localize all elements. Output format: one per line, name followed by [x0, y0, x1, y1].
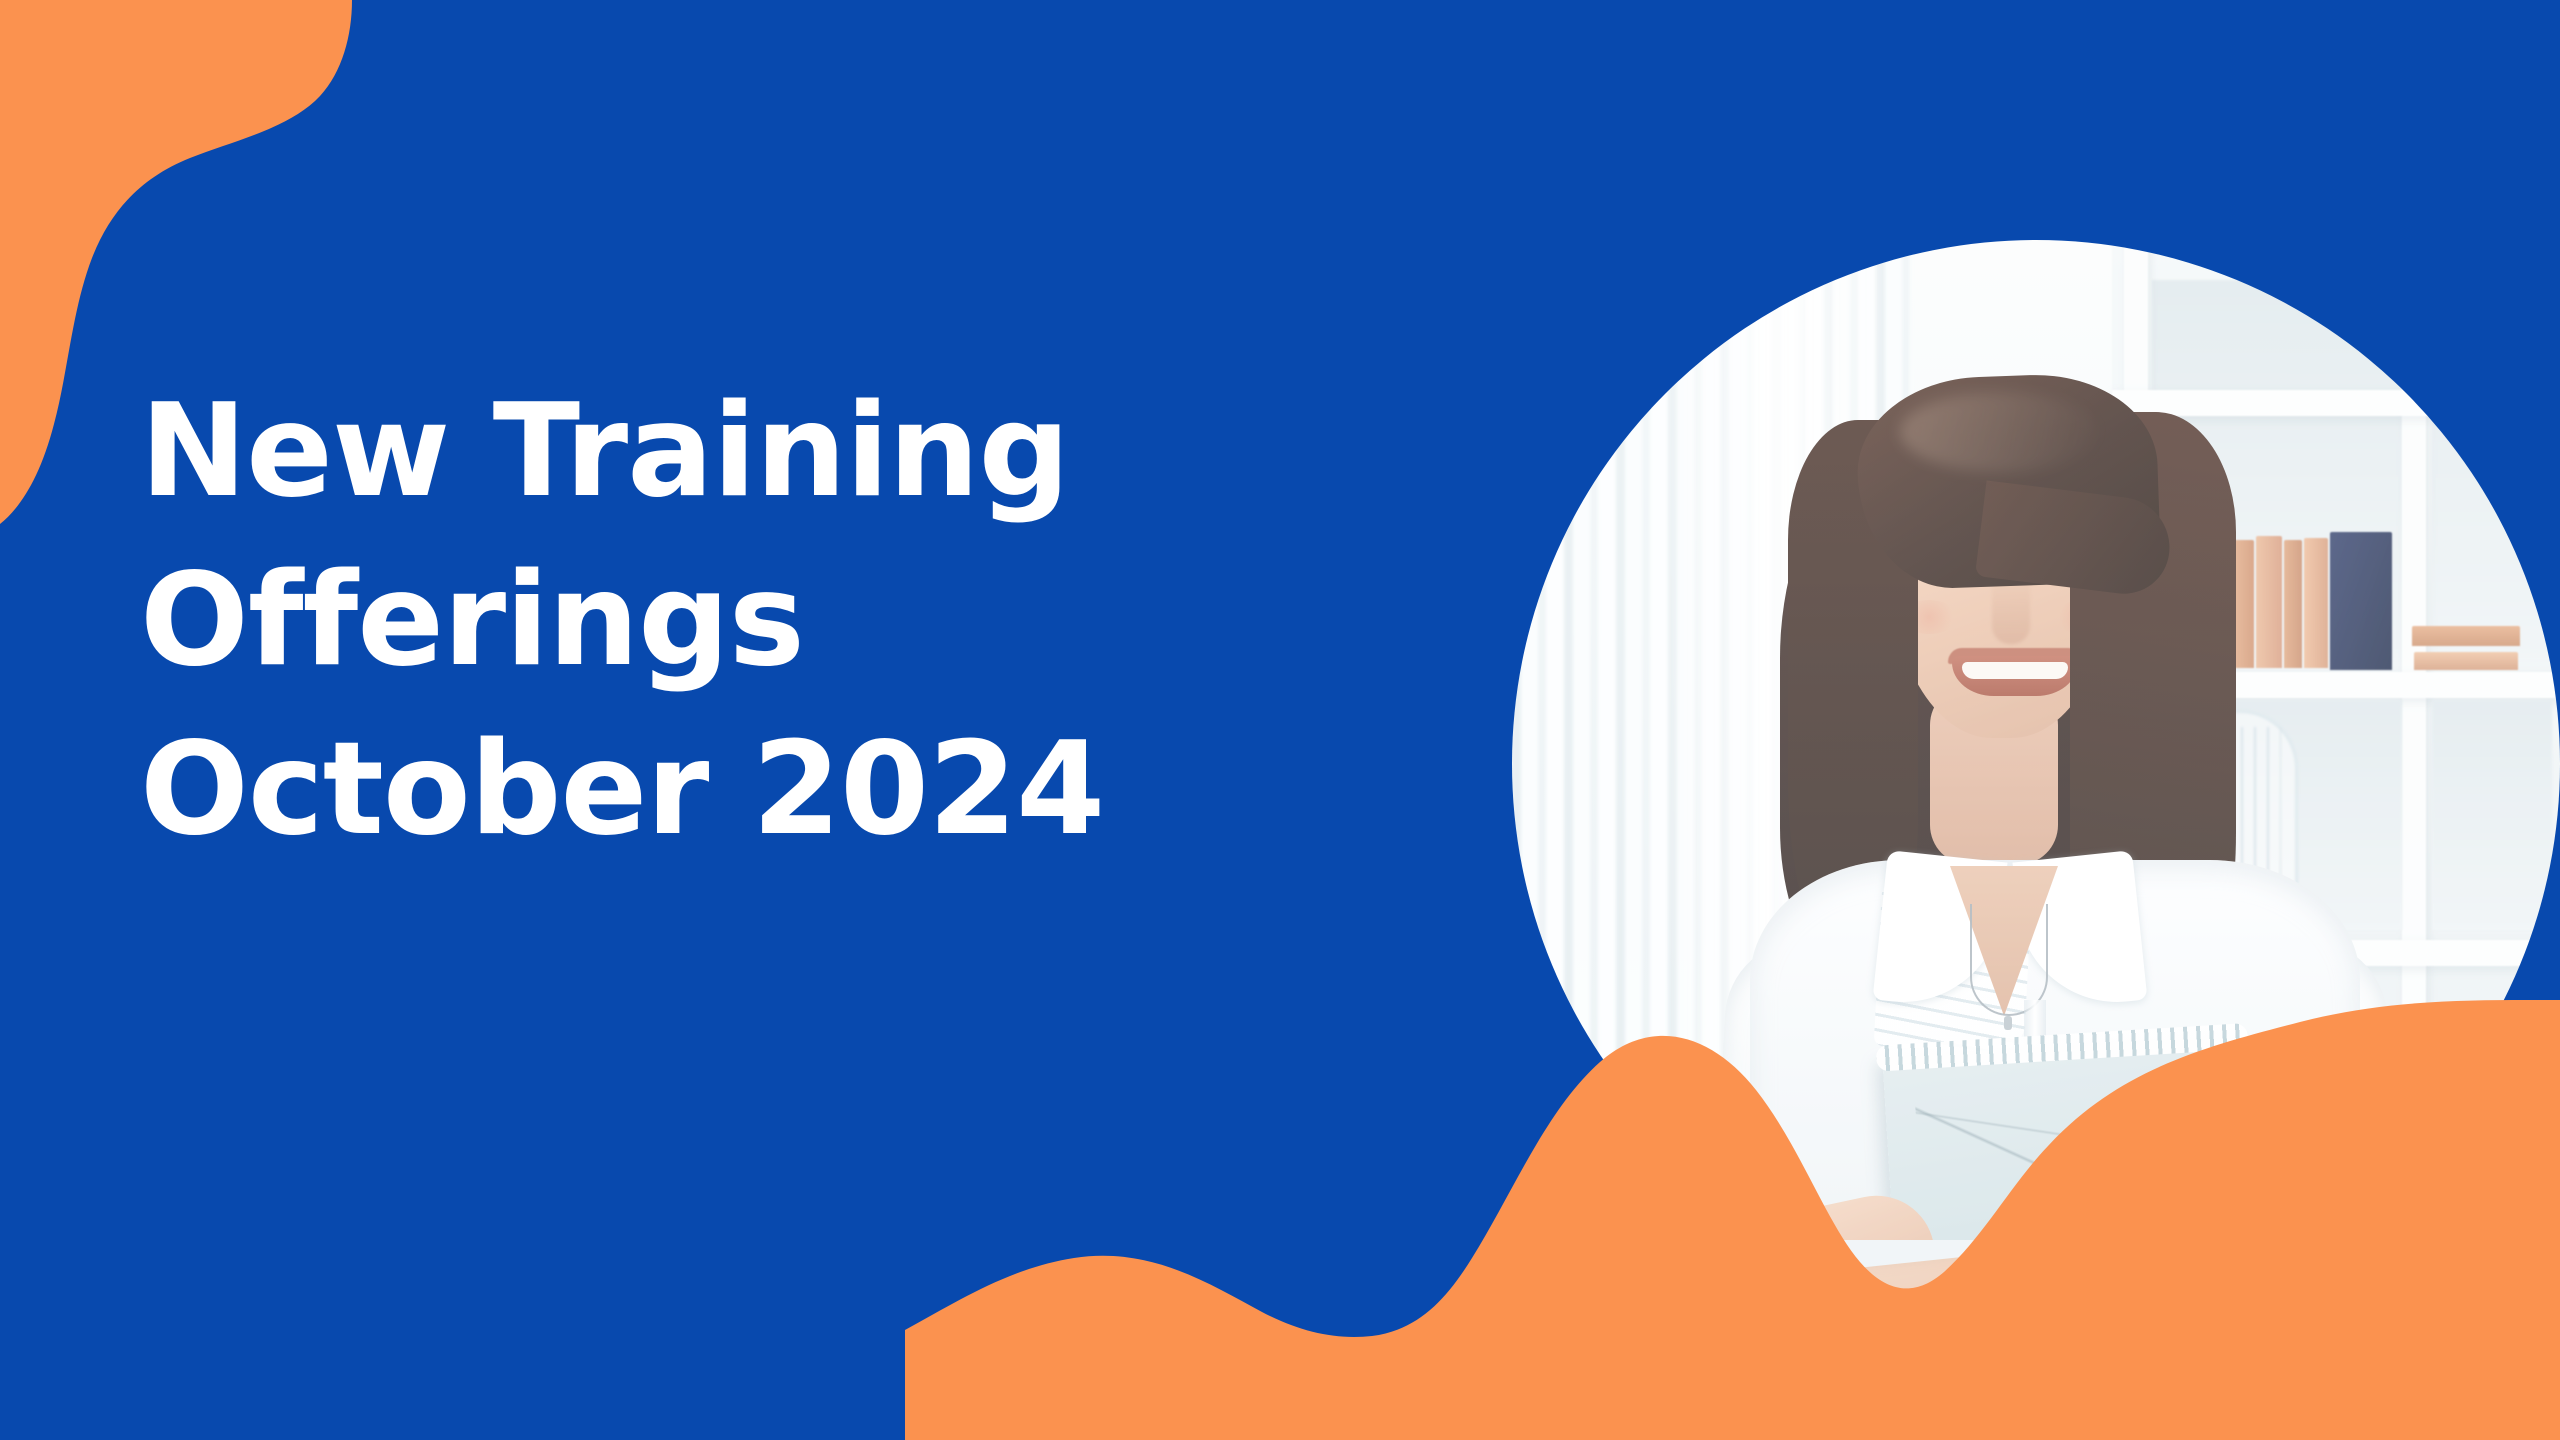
headline-line-1: New Training	[140, 368, 1400, 537]
page-title: New Training Offerings October 2024	[140, 368, 1400, 875]
headline-line-2: Offerings	[140, 537, 1400, 706]
training-banner: New Training Offerings October 2024	[0, 0, 2560, 1440]
headline-line-3: October 2024	[140, 706, 1400, 875]
